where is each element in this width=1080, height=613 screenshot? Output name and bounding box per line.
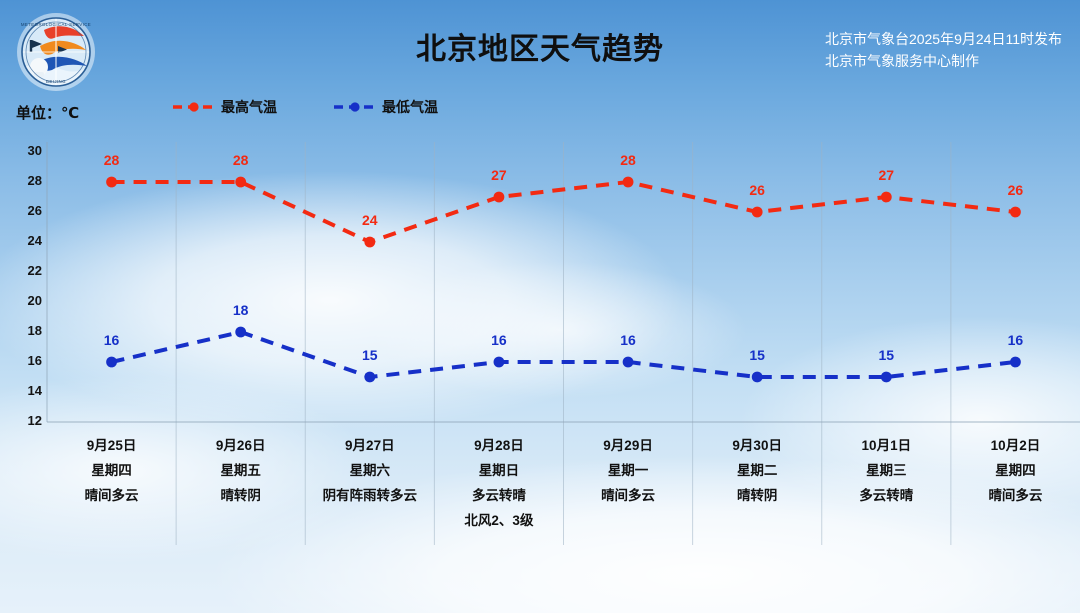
data-point-high	[494, 192, 505, 203]
day-date-label: 10月1日	[822, 433, 951, 458]
data-value-label-high: 26	[749, 182, 765, 198]
x-axis-day-column: 9月25日星期四晴间多云	[47, 425, 176, 545]
data-value-label-high: 24	[362, 212, 378, 228]
day-date-label: 9月27日	[305, 433, 434, 458]
data-value-label-high: 27	[879, 167, 895, 183]
day-weather-label: 晴间多云	[564, 483, 693, 508]
day-weekday-label: 星期一	[564, 458, 693, 483]
y-axis-tick-label: 24	[8, 233, 42, 248]
day-weather-label: 晴间多云	[47, 483, 176, 508]
data-value-label-low: 18	[233, 302, 249, 318]
day-weekday-label: 星期二	[693, 458, 822, 483]
data-value-label-high: 28	[104, 152, 120, 168]
day-wind-label: 北风2、3级	[434, 508, 563, 533]
data-value-label-low: 16	[620, 332, 636, 348]
y-axis-tick-label: 20	[8, 293, 42, 308]
day-weather-label: 晴转阴	[693, 483, 822, 508]
x-axis-day-columns: 9月25日星期四晴间多云9月26日星期五晴转阴9月27日星期六阴有阵雨转多云9月…	[47, 425, 1080, 545]
day-weekday-label: 星期四	[951, 458, 1080, 483]
x-axis-day-column: 9月26日星期五晴转阴	[176, 425, 305, 545]
day-date-label: 9月26日	[176, 433, 305, 458]
x-axis-day-column: 9月27日星期六阴有阵雨转多云	[305, 425, 434, 545]
data-value-label-low: 16	[104, 332, 120, 348]
data-value-label-low: 16	[491, 332, 507, 348]
data-value-label-low: 15	[362, 347, 378, 363]
data-value-label-low: 15	[879, 347, 895, 363]
y-axis-tick-label: 16	[8, 353, 42, 368]
data-point-low	[752, 372, 763, 383]
data-point-high	[623, 177, 634, 188]
data-point-low	[235, 327, 246, 338]
x-axis-day-column: 10月2日星期四晴间多云	[951, 425, 1080, 545]
data-point-high	[235, 177, 246, 188]
data-value-label-high: 27	[491, 167, 507, 183]
weather-trend-chart-page: METEOROLOGICAL SERVICE BEIJING 北京地区天气趋势 …	[0, 0, 1080, 613]
y-axis-tick-label: 30	[8, 143, 42, 158]
day-date-label: 9月30日	[693, 433, 822, 458]
data-point-high	[752, 207, 763, 218]
x-axis-day-column: 9月30日星期二晴转阴	[693, 425, 822, 545]
day-weekday-label: 星期六	[305, 458, 434, 483]
day-weather-label: 多云转晴	[822, 483, 951, 508]
data-value-label-high: 28	[233, 152, 249, 168]
data-point-low	[1010, 357, 1021, 368]
day-date-label: 9月29日	[564, 433, 693, 458]
y-axis-tick-label: 28	[8, 173, 42, 188]
day-weather-label: 晴间多云	[951, 483, 1080, 508]
data-value-label-low: 16	[1008, 332, 1024, 348]
data-point-high	[106, 177, 117, 188]
x-axis-day-column: 10月1日星期三多云转晴	[822, 425, 951, 545]
x-axis-day-column: 9月28日星期日多云转晴北风2、3级	[434, 425, 563, 545]
data-point-low	[364, 372, 375, 383]
data-point-high	[1010, 207, 1021, 218]
data-value-label-high: 26	[1008, 182, 1024, 198]
y-axis-tick-label: 22	[8, 263, 42, 278]
x-axis-day-column: 9月29日星期一晴间多云	[564, 425, 693, 545]
data-point-high	[881, 192, 892, 203]
day-weather-label: 阴有阵雨转多云	[305, 483, 434, 508]
data-value-label-high: 28	[620, 152, 636, 168]
day-weather-label: 多云转晴	[434, 483, 563, 508]
y-axis-tick-label: 12	[8, 413, 42, 428]
day-weather-label: 晴转阴	[176, 483, 305, 508]
data-value-label-low: 15	[749, 347, 765, 363]
day-weekday-label: 星期日	[434, 458, 563, 483]
y-axis-tick-label: 14	[8, 383, 42, 398]
day-weekday-label: 星期三	[822, 458, 951, 483]
data-point-low	[106, 357, 117, 368]
data-point-low	[494, 357, 505, 368]
day-date-label: 9月28日	[434, 433, 563, 458]
day-weekday-label: 星期五	[176, 458, 305, 483]
day-date-label: 10月2日	[951, 433, 1080, 458]
data-point-low	[881, 372, 892, 383]
data-point-high	[364, 237, 375, 248]
day-weekday-label: 星期四	[47, 458, 176, 483]
day-date-label: 9月25日	[47, 433, 176, 458]
y-axis-tick-label: 26	[8, 203, 42, 218]
y-axis-tick-label: 18	[8, 323, 42, 338]
data-point-low	[623, 357, 634, 368]
